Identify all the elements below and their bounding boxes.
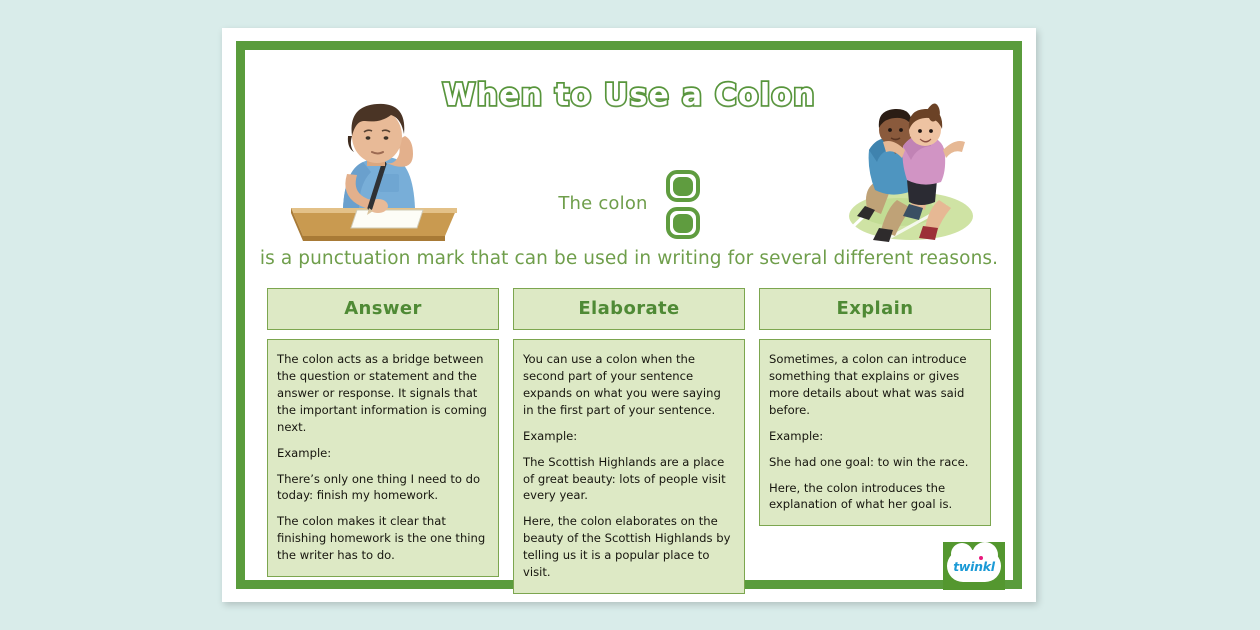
column-body-explain: Sometimes, a colon can introduce somethi… <box>759 339 991 526</box>
poster-green-frame: When to Use a Colon <box>236 41 1022 589</box>
intro-sentence: is a punctuation mark that can be used i… <box>245 248 1013 269</box>
columns-container: Answer The colon acts as a bridge betwee… <box>267 288 991 594</box>
paragraph-example-label: Example: <box>277 445 489 462</box>
column-header-answer: Answer <box>267 288 499 330</box>
intro-lead-text: The colon <box>558 193 647 214</box>
paragraph-explanation: The colon makes it clear that finishing … <box>277 513 489 564</box>
column-header-elaborate: Elaborate <box>513 288 745 330</box>
paragraph-explanation: Here, the colon elaborates on the beauty… <box>523 513 735 581</box>
column-body-answer: The colon acts as a bridge between the q… <box>267 339 499 577</box>
paragraph-example: The Scottish Highlands are a place of gr… <box>523 454 735 505</box>
colon-punctuation-icon <box>666 170 700 239</box>
paragraph: You can use a colon when the second part… <box>523 351 735 419</box>
column-answer: Answer The colon acts as a bridge betwee… <box>267 288 499 577</box>
poster-page: When to Use a Colon <box>222 28 1036 602</box>
colon-dot-top <box>666 170 700 202</box>
column-body-elaborate: You can use a colon when the second part… <box>513 339 745 594</box>
poster-content-area: When to Use a Colon <box>245 50 1013 580</box>
paragraph-example: There’s only one thing I need to do toda… <box>277 471 489 505</box>
paragraph-example: She had one goal: to win the race. <box>769 454 981 471</box>
twinkl-logo: twinkl <box>943 542 1005 590</box>
twinkl-dot-icon <box>979 556 983 560</box>
column-header-explain: Explain <box>759 288 991 330</box>
paragraph-example-label: Example: <box>523 428 735 445</box>
page-title: When to Use a Colon <box>442 78 815 113</box>
intro-row: The colon <box>245 168 1013 239</box>
paragraph: Sometimes, a colon can introduce somethi… <box>769 351 981 419</box>
twinkl-wordmark: twinkl <box>953 559 995 574</box>
column-elaborate: Elaborate You can use a colon when the s… <box>513 288 745 594</box>
paragraph-example-label: Example: <box>769 428 981 445</box>
colon-dot-bottom <box>666 207 700 239</box>
cloud-icon: twinkl <box>947 550 1001 582</box>
column-explain: Explain Sometimes, a colon can introduce… <box>759 288 991 526</box>
paragraph-explanation: Here, the colon introduces the explanati… <box>769 480 981 514</box>
paragraph: The colon acts as a bridge between the q… <box>277 351 489 436</box>
